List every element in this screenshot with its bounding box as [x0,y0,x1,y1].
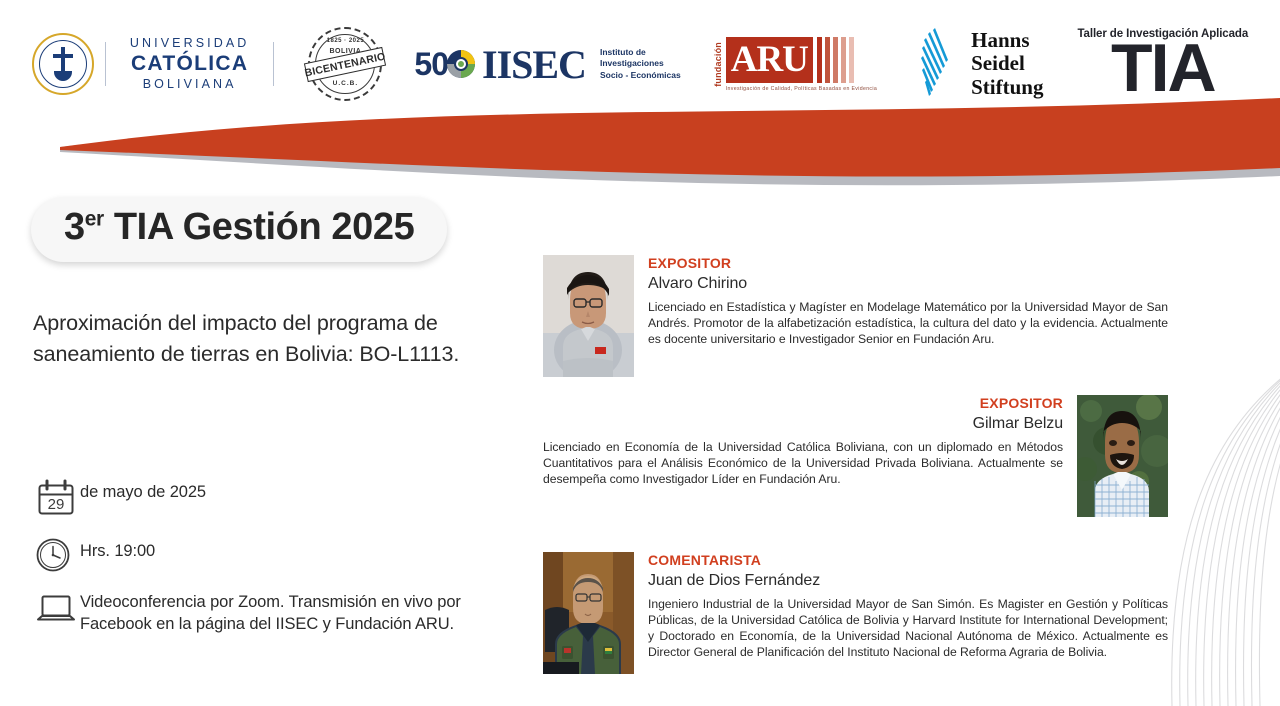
speaker-photo-gilmar-belzu [1077,395,1168,517]
aru-tagline: Investigación de Calidad, Políticas Basa… [726,86,877,92]
ucb-line-2: CATÓLICA [130,51,250,77]
speaker-card-3: COMENTARISTA Juan de Dios Fernández Inge… [543,552,1168,674]
speaker-card-2: EXPOSITOR Gilmar Belzu Licenciado en Eco… [543,395,1168,517]
detail-row-location: Videoconferencia por Zoom. Transmisión e… [36,592,516,636]
event-subtitle: Aproximación del impacto del programa de… [33,308,533,369]
stamp-institution: U.C.B. [310,80,380,87]
iisec-swirl-icon [446,49,476,79]
bicentenario-stamp-icon: 1825 · 2025 BOLIVIA BICENTENARIO U.C.B. [308,27,382,101]
event-title-pill: 3er TIA Gestión 2025 [31,197,447,262]
iisec-acronym: IISEC [482,41,586,88]
hss-line-2: Seidel [971,52,1043,76]
title-ordinal-suffix: er [85,207,104,230]
iisec-subtitle: Instituto de Investigaciones Socio - Eco… [600,47,681,81]
page-title: 3er TIA Gestión 2025 [64,206,414,249]
speaker-photo-juan-de-dios-fernandez [543,552,634,674]
iisec-subtitle-line-1: Instituto de [600,47,681,58]
speaker-card-1: EXPOSITOR Alvaro Chirino Licenciado en E… [543,255,1168,377]
aru-fundacion-label: fundación [713,42,723,87]
speaker-role: EXPOSITOR [648,255,1168,271]
event-poster: UNIVERSIDAD CATÓLICA BOLIVIANA 1825 · 20… [0,0,1280,706]
detail-row-time: Hrs. 19:00 [36,537,516,572]
aru-wordmark: ARU [726,37,877,83]
iisec-subtitle-line-3: Socio - Económicas [600,70,681,81]
logo-iisec: 50 IISEC Instituto de Investigaciones [398,41,696,88]
logo-tia: Taller de Investigación Aplicada TIA [1059,28,1248,101]
speaker-bio: Licenciado en Economía de la Universidad… [543,440,1063,488]
title-ordinal-number: 3 [64,206,85,248]
logo-divider [273,42,274,86]
swoosh-gray-band [60,108,1280,185]
detail-text-date: de mayo de 2025 [80,478,206,504]
iisec-anniversary-number: 50 [414,46,448,83]
clock-icon [36,537,80,572]
logo-fundacion-aru: fundación ARU Investigación de Calidad, … [697,37,893,92]
detail-text-time: Hrs. 19:00 [80,537,155,563]
detail-row-date: 29 de mayo de 2025 [36,478,516,517]
logo-divider [105,42,106,86]
speaker-bio: Licenciado en Estadística y Magíster en … [648,300,1168,348]
hss-line-3: Stiftung [971,76,1043,100]
speaker-role: EXPOSITOR [543,395,1063,411]
iisec-subtitle-line-2: Investigaciones [600,58,681,69]
laptop-icon [36,592,80,625]
speaker-name: Juan de Dios Fernández [648,572,1168,590]
aru-acronym: ARU [726,37,813,83]
detail-text-location: Videoconferencia por Zoom. Transmisión e… [80,592,516,636]
sponsor-logo-bar: UNIVERSIDAD CATÓLICA BOLIVIANA 1825 · 20… [0,18,1280,110]
hanns-seidel-diamond-icon [909,26,961,103]
calendar-day-number: 29 [48,496,65,513]
speaker-name: Alvaro Chirino [648,275,1168,293]
logo-bicentenario-stamp: 1825 · 2025 BOLIVIA BICENTENARIO U.C.B. [292,27,398,101]
ucb-line-3: BOLIVIANA [130,77,250,92]
speaker-name: Gilmar Belzu [543,415,1063,433]
tia-acronym: TIA [1111,36,1215,101]
hanns-seidel-wordmark: Hanns Seidel Stiftung [971,29,1043,100]
speaker-photo-alvaro-chirino [543,255,634,377]
event-details: 29 de mayo de 2025 Hrs. 19:00 [36,478,516,656]
speaker-role: COMENTARISTA [648,552,1168,568]
ucb-seal-icon [32,33,94,95]
stamp-years: 1825 · 2025 [310,38,380,44]
title-rest: TIA Gestión 2025 [104,206,415,248]
speaker-bio: Ingeniero Industrial de la Universidad M… [648,597,1168,660]
calendar-icon: 29 [36,478,80,517]
logo-hanns-seidel-stiftung: Hanns Seidel Stiftung [893,26,1059,103]
hss-line-1: Hanns [971,29,1043,53]
ucb-line-1: UNIVERSIDAD [130,36,250,51]
aru-bars-icon [817,37,854,83]
iisec-anniversary-mark: 50 [414,46,476,83]
logo-universidad-catolica-boliviana: UNIVERSIDAD CATÓLICA BOLIVIANA [32,33,293,95]
